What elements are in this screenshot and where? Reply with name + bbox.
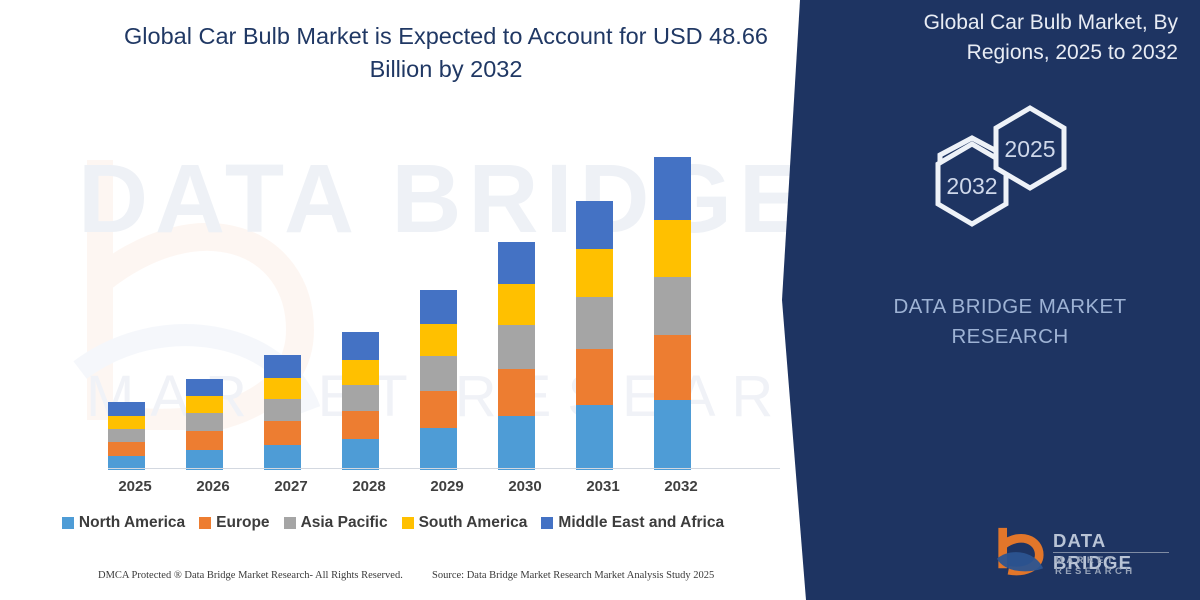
legend-item-asia-pacific[interactable]: Asia Pacific xyxy=(284,514,388,532)
legend-item-middle-east-and-africa[interactable]: Middle East and Africa xyxy=(541,514,724,532)
bar-segment xyxy=(342,332,379,360)
hexagon-group: 2032 2025 xyxy=(820,100,1200,240)
legend-label: Asia Pacific xyxy=(301,514,388,532)
bar-segment xyxy=(654,277,691,335)
bar-segment xyxy=(420,391,457,428)
bar-segment xyxy=(654,220,691,277)
bar-2029 xyxy=(420,290,457,470)
logo-divider xyxy=(1053,552,1169,553)
bar-segment xyxy=(498,242,535,284)
legend-item-north-america[interactable]: North America xyxy=(62,514,185,532)
bar-2030 xyxy=(498,242,535,470)
bar-segment xyxy=(576,405,613,470)
x-axis-label-2030: 2030 xyxy=(486,478,564,495)
bar-segment xyxy=(108,442,145,456)
bar-2027 xyxy=(264,355,301,470)
bar-segment xyxy=(654,157,691,220)
bar-segment xyxy=(654,400,691,470)
logo-mark-icon xyxy=(995,526,1045,576)
bar-segment xyxy=(576,249,613,297)
bar-segment xyxy=(108,402,145,416)
legend-swatch xyxy=(284,517,296,529)
infographic-canvas: DATA BRIDGE MARKET MARKET RESEARCH Globa… xyxy=(0,0,1200,600)
bar-2032 xyxy=(654,157,691,470)
bar-segment xyxy=(186,379,223,396)
x-axis-label-2026: 2026 xyxy=(174,478,252,495)
bar-segment xyxy=(264,378,301,399)
bar-segment xyxy=(420,290,457,324)
legend-swatch xyxy=(541,517,553,529)
bar-segment xyxy=(108,416,145,429)
bar-2031 xyxy=(576,201,613,470)
bar-segment xyxy=(498,284,535,325)
bar-2026 xyxy=(186,379,223,470)
panel-brand: DATA BRIDGE MARKET RESEARCH xyxy=(820,292,1200,352)
bar-segment xyxy=(186,450,223,470)
bar-segment xyxy=(264,421,301,445)
bar-segment xyxy=(264,445,301,470)
hexagon-shapes xyxy=(820,100,1200,240)
bar-segment xyxy=(498,416,535,470)
bar-segment xyxy=(186,413,223,431)
bar-segment xyxy=(264,355,301,378)
bar-segment xyxy=(342,385,379,411)
x-axis-label-2027: 2027 xyxy=(252,478,330,495)
logo-text-secondary: MARKET RESEARCH xyxy=(1055,555,1175,577)
page-title: Global Car Bulb Market is Expected to Ac… xyxy=(96,20,796,86)
x-axis-label-2031: 2031 xyxy=(564,478,642,495)
legend-label: Europe xyxy=(216,514,269,532)
panel-brand-line2: RESEARCH xyxy=(951,325,1068,348)
legend-swatch xyxy=(199,517,211,529)
panel-heading: Global Car Bulb Market, By Regions, 2025… xyxy=(848,8,1178,68)
logo: DATA BRIDGE MARKET RESEARCH xyxy=(995,524,1175,580)
x-axis-label-2025: 2025 xyxy=(96,478,174,495)
panel-content: Global Car Bulb Market, By Regions, 2025… xyxy=(820,0,1200,600)
legend-label: Middle East and Africa xyxy=(558,514,724,532)
panel-brand-line1: DATA BRIDGE MARKET xyxy=(893,295,1126,318)
bar-segment xyxy=(420,324,457,356)
bar-segment xyxy=(576,201,613,249)
bar-segment xyxy=(498,369,535,416)
bar-segment xyxy=(186,431,223,450)
bar-segment xyxy=(264,399,301,421)
footer-source: Source: Data Bridge Market Research Mark… xyxy=(432,570,714,581)
legend-swatch xyxy=(402,517,414,529)
legend-item-south-america[interactable]: South America xyxy=(402,514,528,532)
bar-segment xyxy=(420,356,457,391)
bar-segment xyxy=(186,396,223,413)
legend-item-europe[interactable]: Europe xyxy=(199,514,269,532)
x-axis-label-2029: 2029 xyxy=(408,478,486,495)
bar-segment xyxy=(654,335,691,400)
bar-segment xyxy=(342,439,379,470)
bar-segment xyxy=(576,297,613,349)
hexagon-label-2025: 2025 xyxy=(970,136,1090,163)
hexagon-label-2032: 2032 xyxy=(912,173,1032,200)
footer-copyright: DMCA Protected ® Data Bridge Market Rese… xyxy=(98,570,403,581)
stacked-bar-chart xyxy=(100,120,790,470)
legend-label: South America xyxy=(419,514,528,532)
bar-segment xyxy=(576,349,613,405)
bar-segment xyxy=(498,325,535,369)
bar-2028 xyxy=(342,332,379,470)
bar-segment xyxy=(342,360,379,385)
legend-swatch xyxy=(62,517,74,529)
x-axis-label-2028: 2028 xyxy=(330,478,408,495)
bar-segment xyxy=(420,428,457,470)
x-axis-line xyxy=(108,468,780,469)
x-axis-label-2032: 2032 xyxy=(642,478,720,495)
legend-label: North America xyxy=(79,514,185,532)
bar-2025 xyxy=(108,402,145,470)
bar-segment xyxy=(108,429,145,442)
bar-segment xyxy=(342,411,379,439)
chart-legend: North AmericaEuropeAsia PacificSouth Ame… xyxy=(0,514,800,532)
